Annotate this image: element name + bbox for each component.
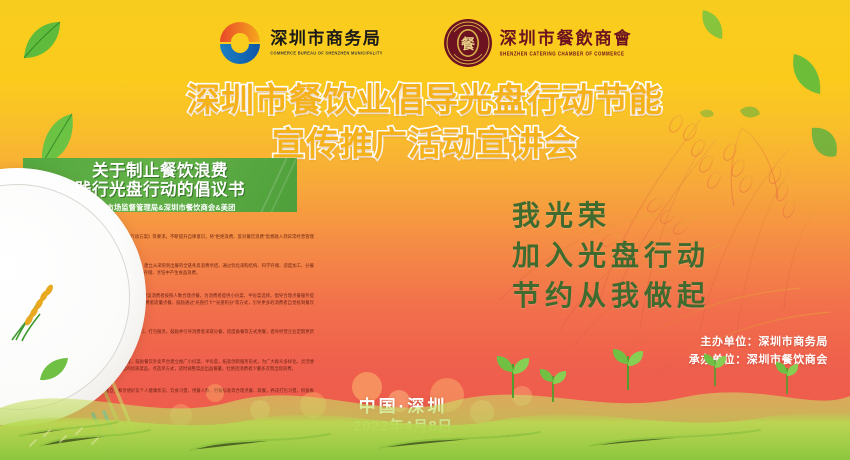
organizer-host: 主办单位：深圳市商务局 [560, 333, 828, 351]
logo-shenzhen-catering-chamber: 餐 深圳市餐飲商會 SHENZHEN CATERING CHAMBER OF C… [443, 18, 633, 68]
poster-title: 深圳市餐饮业倡导光盘行动节能 宣传推广活动宣讲会 [0, 78, 850, 165]
logo-row: 深圳市商务局 COMMERCE BUREAU OF SHENZHEN MUNIC… [0, 14, 850, 72]
sprout-icon [536, 362, 570, 402]
logo-label-en: SHENZHEN CATERING CHAMBER OF COMMERCE [500, 51, 633, 57]
slogan-line2: 加入光盘行动 [512, 236, 842, 276]
leaf-icon [36, 354, 72, 384]
poster-title-line1: 深圳市餐饮业倡导光盘行动节能 [0, 78, 850, 122]
footer-place: 中国·深圳 [353, 398, 453, 417]
logo-label-en: COMMERCE BUREAU OF SHENZHEN MUNICIPALITY [270, 51, 382, 56]
footer-date: 2023年4月8日 [353, 417, 453, 437]
seal-logo-icon: 餐 [443, 18, 493, 68]
svg-text:餐: 餐 [460, 36, 476, 53]
arc-logo-icon [217, 19, 263, 67]
slogan-line3: 节约从我做起 [512, 276, 842, 316]
slogan-block: 我光荣 加入光盘行动 节约从我做起 [512, 196, 842, 315]
sprout-icon [608, 342, 648, 390]
sprout-icon [492, 348, 534, 398]
poster-canvas: 深圳市商务局 COMMERCE BUREAU OF SHENZHEN MUNIC… [0, 0, 850, 460]
sprout-icon [700, 348, 730, 386]
logo-label-cn: 深圳市餐飲商會 [500, 30, 633, 48]
logo-label-cn: 深圳市商务局 [270, 30, 382, 48]
slogan-line1: 我光荣 [512, 196, 842, 236]
footer-place-date: 中国·深圳 2023年4月8日 [0, 398, 850, 437]
sprout-icon [772, 356, 802, 394]
logo-shenzhen-bureau-of-commerce: 深圳市商务局 COMMERCE BUREAU OF SHENZHEN MUNIC… [217, 19, 382, 67]
